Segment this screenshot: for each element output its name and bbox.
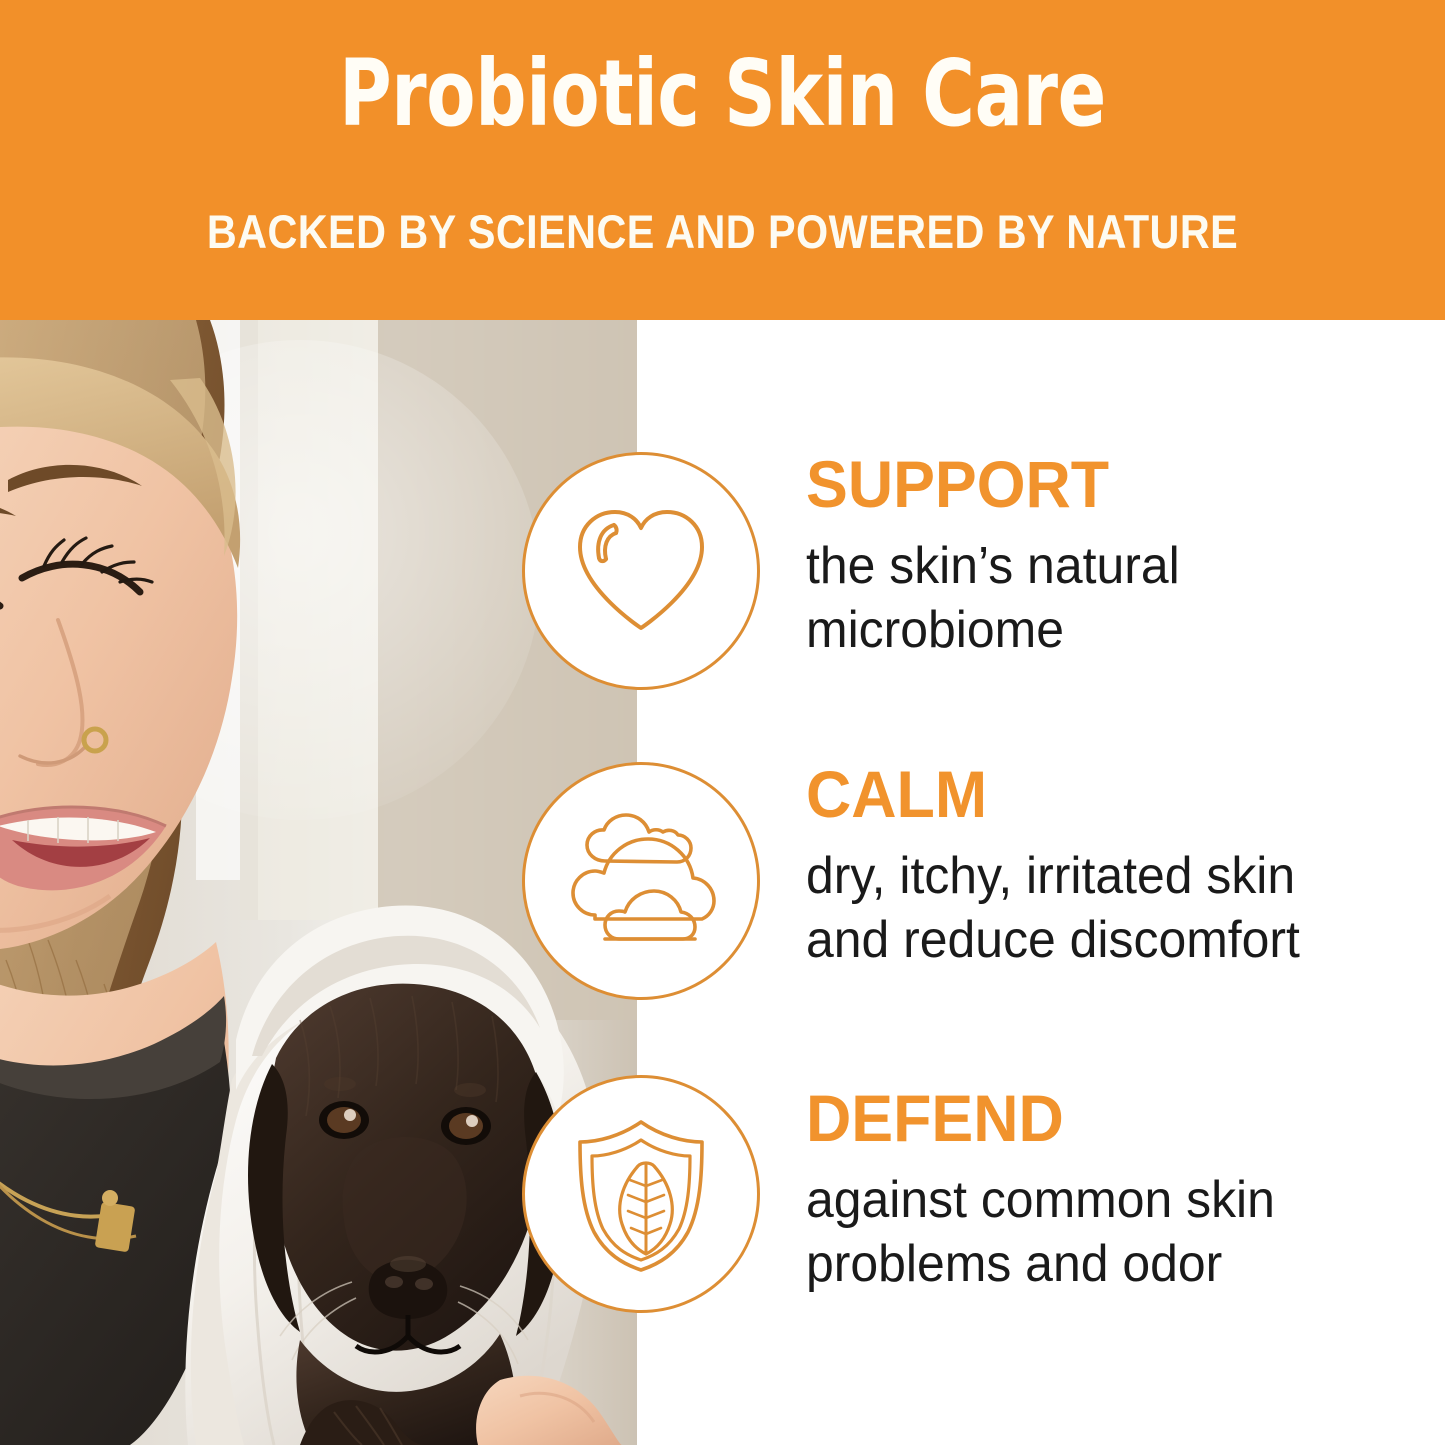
feature-body-calm: dry, itchy, irritated skin and reduce di… — [806, 844, 1401, 972]
feature-icon-circle-support — [522, 452, 760, 690]
feature-body-line: dry, itchy, irritated skin — [806, 844, 1401, 908]
feature-heading-calm: CALM — [806, 758, 1395, 830]
feature-body-support: the skin’s natural microbiome — [806, 534, 1401, 662]
feature-icon-circle-calm — [522, 762, 760, 1000]
feature-body-defend: against common skin problems and odor — [806, 1168, 1401, 1296]
shield-leaf-icon — [566, 1114, 716, 1274]
probiotic-skin-care-poster: Probiotic Skin Care BACKED BY SCIENCE AN… — [0, 0, 1445, 1445]
feature-body-line: and reduce discomfort — [806, 908, 1401, 972]
feature-text-calm: CALM dry, itchy, irritated skin and redu… — [806, 758, 1426, 972]
header-banner: Probiotic Skin Care BACKED BY SCIENCE AN… — [0, 0, 1445, 320]
page-subtitle: BACKED BY SCIENCE AND POWERED BY NATURE — [87, 204, 1359, 260]
heart-icon — [566, 496, 716, 646]
clouds-icon — [561, 811, 721, 951]
feature-icon-circle-defend — [522, 1075, 760, 1313]
feature-body-line: against common skin — [806, 1168, 1401, 1232]
feature-text-support: SUPPORT the skin’s natural microbiome — [806, 448, 1426, 662]
feature-body-line: the skin’s natural — [806, 534, 1401, 598]
feature-body-line: microbiome — [806, 598, 1401, 662]
feature-heading-defend: DEFEND — [806, 1082, 1395, 1154]
feature-heading-support: SUPPORT — [806, 448, 1395, 520]
page-title: Probiotic Skin Care — [159, 44, 1286, 144]
feature-text-defend: DEFEND against common skin problems and … — [806, 1082, 1426, 1296]
feature-body-line: problems and odor — [806, 1232, 1401, 1296]
